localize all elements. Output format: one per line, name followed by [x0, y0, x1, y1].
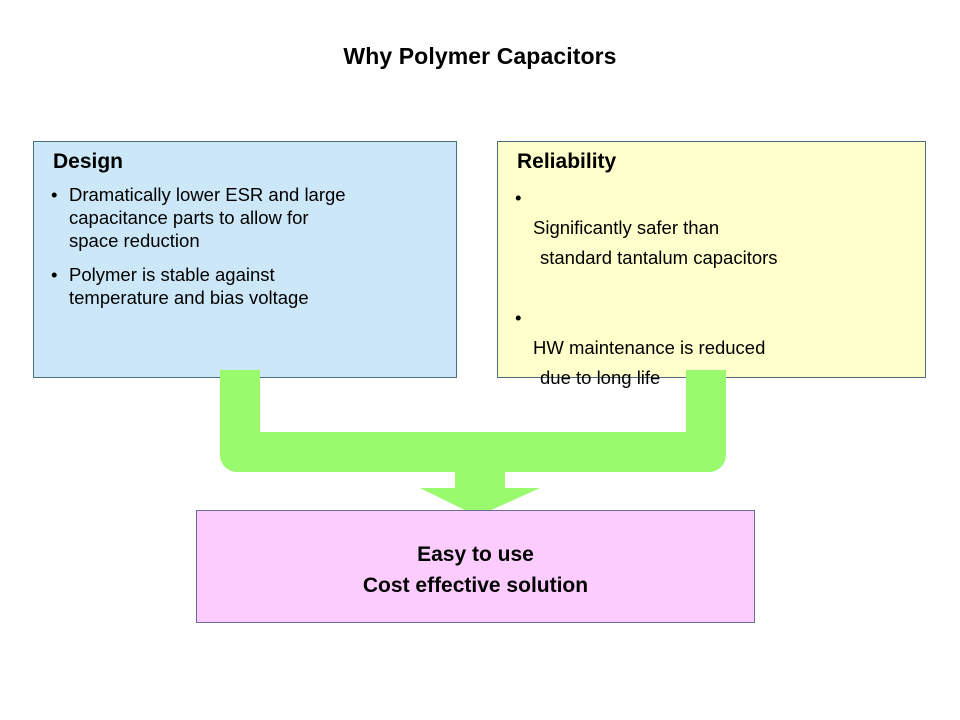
list-item-line-continued: standard tantalum capacitors — [533, 243, 917, 273]
list-item-text: Polymer is stable against temperature an… — [69, 263, 448, 309]
list-item: • Significantly safer than standard tant… — [512, 183, 917, 303]
bullet-icon: • — [515, 303, 521, 333]
bullet-icon: • — [51, 183, 57, 206]
list-item-text: Dramatically lower ESR and large capacit… — [69, 183, 448, 252]
panel-design: Design • Dramatically lower ESR and larg… — [33, 141, 457, 378]
outcome-box: Easy to use Cost effective solution — [196, 510, 755, 623]
list-item-text: Significantly safer than standard tantal… — [533, 183, 917, 303]
panel-reliability: Reliability • Significantly safer than s… — [497, 141, 926, 378]
list-item: • Dramatically lower ESR and large capac… — [48, 183, 448, 252]
bullet-icon: • — [51, 263, 57, 286]
slide-canvas: Why Polymer Capacitors Design • Dramatic… — [0, 0, 960, 720]
list-item-line: Significantly safer than — [533, 217, 719, 238]
outcome-line-1: Easy to use — [197, 539, 754, 570]
panel-design-heading: Design — [53, 150, 123, 174]
panel-reliability-heading: Reliability — [517, 150, 616, 174]
bullet-icon: • — [515, 183, 521, 213]
panel-design-bullet-list: • Dramatically lower ESR and large capac… — [48, 183, 448, 309]
list-item-text: HW maintenance is reduced due to long li… — [533, 303, 917, 423]
outcome-text-group: Easy to use Cost effective solution — [197, 539, 754, 601]
panel-reliability-bullet-list: • Significantly safer than standard tant… — [512, 183, 917, 423]
list-item-line-continued: due to long life — [533, 363, 917, 393]
list-item: • HW maintenance is reduced due to long … — [512, 303, 917, 423]
list-item-line: HW maintenance is reduced — [533, 337, 765, 358]
page-title: Why Polymer Capacitors — [0, 44, 960, 69]
outcome-line-2: Cost effective solution — [197, 570, 754, 601]
list-item: • Polymer is stable against temperature … — [48, 263, 448, 309]
